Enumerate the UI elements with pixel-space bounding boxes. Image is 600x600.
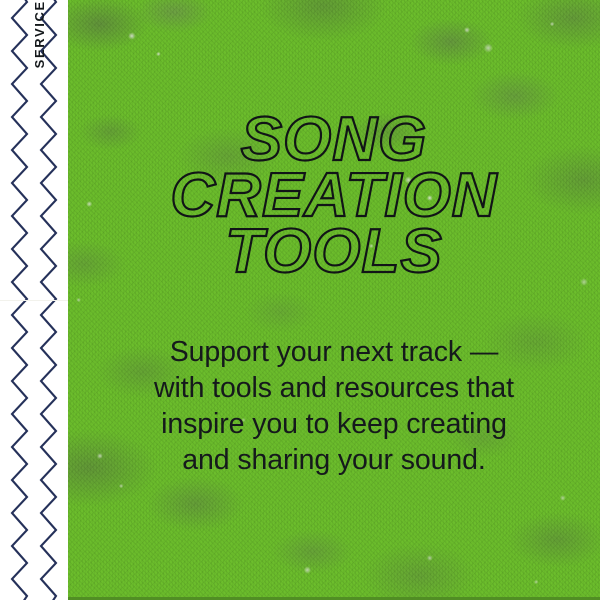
texture-fleck-layer [68,0,600,600]
headline-outline-text: SONG CREATION TOOLS [84,104,584,300]
strip-hairline-divider [0,300,68,301]
green-texture-panel [68,0,600,600]
body-line: Support your next track — [68,334,600,370]
body-copy-block: Support your next track — with tools and… [68,334,600,478]
promo-card: SERVICES SONG CREATION TOOLS Support you… [0,0,600,600]
body-line: inspire you to keep creating [68,406,600,442]
body-line: with tools and resources that [68,370,600,406]
eyebrow-label-services: SERVICES [24,0,54,110]
texture-blotch-layer [68,0,600,600]
body-line: and sharing your sound. [68,442,600,478]
headline-line-3: TOOLS [225,217,442,286]
headline-block: SONG CREATION TOOLS [68,104,600,300]
texture-grain-layer [68,0,600,600]
